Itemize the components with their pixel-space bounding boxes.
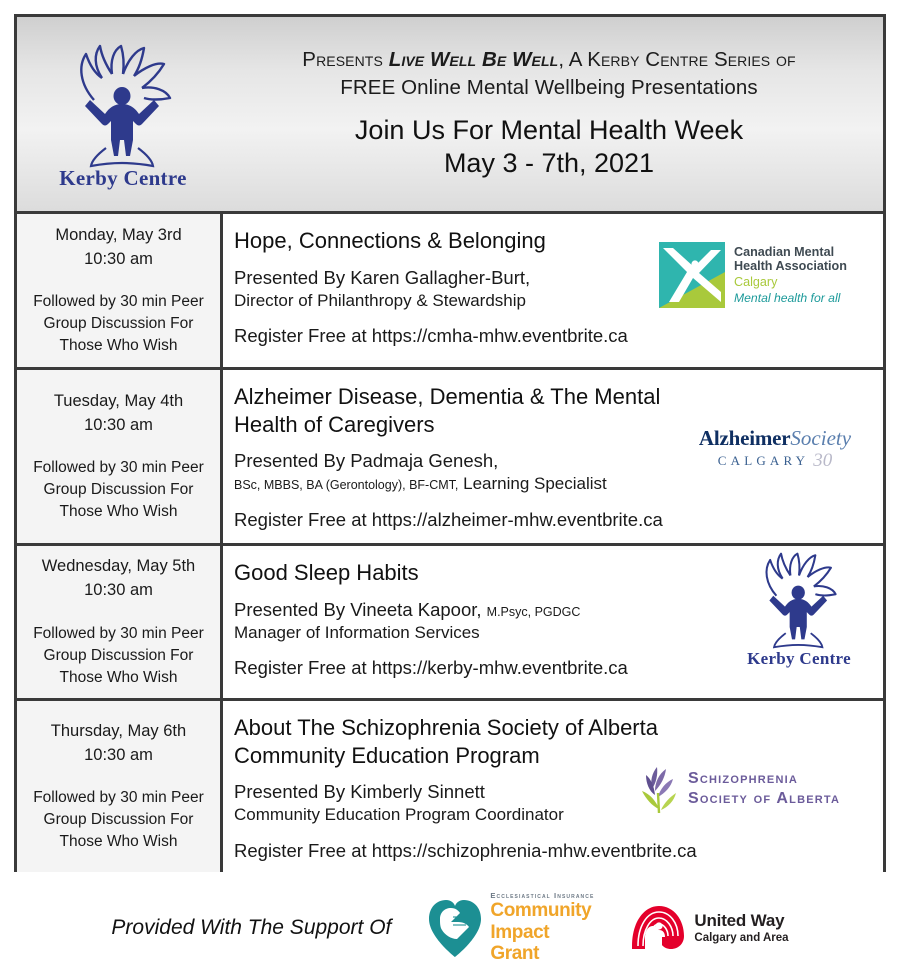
presenter-name-text: Presented By Vineeta Kapoor, bbox=[234, 599, 482, 620]
event-date: Monday, May 3rd bbox=[55, 224, 181, 248]
cmha-line-1: Canadian Mental bbox=[734, 245, 847, 260]
kerby-figure-icon: Kerby Centre bbox=[64, 44, 182, 172]
cig-text-block: Ecclesiastical Insurance Community Impac… bbox=[490, 892, 594, 964]
united-way-name: United Way bbox=[694, 911, 788, 930]
cmha-line-3: Calgary bbox=[734, 275, 847, 290]
schedule-row: Thursday, May 6th 10:30 am Followed by 3… bbox=[17, 701, 883, 872]
support-text: Provided With The Support Of bbox=[111, 916, 391, 940]
event-date: Thursday, May 6th bbox=[51, 720, 186, 744]
peer-group-note: Followed by 30 min Peer Group Discussion… bbox=[23, 457, 214, 523]
kerby-centre-logo-row: Kerby Centre bbox=[729, 552, 869, 669]
schizophrenia-line-1: Schizophrenia bbox=[688, 769, 840, 789]
poster: Kerby Centre Kerby Centre Presents Live … bbox=[0, 0, 900, 975]
schizophrenia-line-2: Society of Alberta bbox=[688, 789, 840, 809]
cmha-tagline: Mental health for all bbox=[734, 291, 847, 305]
presents-line-2-text: FREE Online Mental Wellbeing Presentatio… bbox=[340, 76, 757, 99]
presenter-role: BSc, MBBS, BA (Gerontology), BF-CMT, Lea… bbox=[234, 473, 883, 495]
presenter-role-text: Learning Specialist bbox=[463, 474, 607, 493]
event-time: 10:30 am bbox=[55, 248, 181, 272]
schedule-row: Tuesday, May 4th 10:30 am Followed by 30… bbox=[17, 370, 883, 546]
kerby-figure-icon bbox=[753, 552, 845, 652]
date-cell: Wednesday, May 5th 10:30 am Followed by … bbox=[17, 546, 223, 698]
date-cell: Monday, May 3rd 10:30 am Followed by 30 … bbox=[17, 214, 223, 367]
register-link[interactable]: Register Free at https://cmha-mhw.eventb… bbox=[234, 324, 883, 348]
title-line-1: Join Us For Mental Health Week bbox=[355, 114, 743, 147]
content-cell: Hope, Connections & Belonging Presented … bbox=[223, 214, 883, 367]
date-cell: Thursday, May 6th 10:30 am Followed by 3… bbox=[17, 701, 223, 872]
schizophrenia-society-logo: Schizophrenia Society of Alberta bbox=[637, 763, 873, 815]
presents-suffix: , A Kerby Centre Series of bbox=[558, 48, 795, 71]
session-title: Good Sleep Habits bbox=[234, 559, 664, 587]
alzheimer-anniversary-badge: 30 bbox=[813, 452, 832, 469]
cig-line-3: Grant bbox=[490, 944, 594, 963]
cig-eyebrow: Ecclesiastical Insurance bbox=[490, 892, 594, 900]
alzheimer-name: Alzheimer bbox=[699, 426, 791, 450]
peer-group-note: Followed by 30 min Peer Group Discussion… bbox=[23, 623, 214, 689]
heart-hand-icon bbox=[427, 897, 483, 959]
series-name: Live Well Be Well bbox=[389, 48, 559, 71]
schedule-row: Monday, May 3rd 10:30 am Followed by 30 … bbox=[17, 214, 883, 370]
kerby-centre-wordmark: Kerby Centre bbox=[729, 649, 869, 669]
session-title: Alzheimer Disease, Dementia & The Mental… bbox=[234, 383, 704, 438]
cig-line-1: Community bbox=[490, 901, 594, 920]
content-cell: Alzheimer Disease, Dementia & The Mental… bbox=[223, 370, 883, 543]
united-way-text-block: United Way Calgary and Area bbox=[694, 911, 788, 945]
united-way-region: Calgary and Area bbox=[694, 932, 788, 945]
date-time-block: Wednesday, May 5th 10:30 am bbox=[42, 555, 195, 603]
alzheimer-city: CALGARY bbox=[718, 453, 810, 469]
presents-prefix: Presents bbox=[302, 48, 388, 71]
kerby-centre-logo-header: Kerby Centre Kerby Centre bbox=[17, 17, 229, 211]
society-word: Society bbox=[790, 426, 851, 450]
content-cell: About The Schizophrenia Society of Alber… bbox=[223, 701, 883, 872]
header-text-block: Presents Live Well Be Well, A Kerby Cent… bbox=[229, 17, 883, 211]
schedule-row: Wednesday, May 5th 10:30 am Followed by … bbox=[17, 546, 883, 701]
iris-flower-icon bbox=[637, 763, 681, 815]
schedule-table: Kerby Centre Kerby Centre Presents Live … bbox=[14, 14, 886, 872]
register-link[interactable]: Register Free at https://schizophrenia-m… bbox=[234, 839, 883, 863]
event-date: Wednesday, May 5th bbox=[42, 555, 195, 579]
peer-group-note: Followed by 30 min Peer Group Discussion… bbox=[23, 787, 214, 853]
united-way-rainbow-hand-icon bbox=[630, 902, 686, 954]
event-time: 10:30 am bbox=[42, 579, 195, 603]
alzheimer-society-logo: AlzheimerSociety CALGARY 30 bbox=[675, 426, 875, 469]
date-time-block: Tuesday, May 4th 10:30 am bbox=[54, 390, 183, 438]
alzheimer-sub: CALGARY 30 bbox=[675, 452, 875, 469]
event-time: 10:30 am bbox=[54, 414, 183, 438]
event-time: 10:30 am bbox=[51, 744, 186, 768]
session-title: About The Schizophrenia Society of Alber… bbox=[234, 714, 704, 769]
presents-line-2: FREE Online Mental Wellbeing Presentatio… bbox=[302, 74, 795, 101]
kerby-centre-wordmark: Kerby Centre bbox=[59, 166, 186, 191]
register-link[interactable]: Register Free at https://alzheimer-mhw.e… bbox=[234, 508, 883, 532]
community-impact-grant-logo: Ecclesiastical Insurance Community Impac… bbox=[427, 892, 594, 964]
peer-group-note: Followed by 30 min Peer Group Discussion… bbox=[23, 291, 214, 357]
session-title: Hope, Connections & Belonging bbox=[234, 227, 664, 255]
date-time-block: Thursday, May 6th 10:30 am bbox=[51, 720, 186, 768]
presenter-credentials: BSc, MBBS, BA (Gerontology), BF-CMT, bbox=[234, 478, 458, 492]
date-time-block: Monday, May 3rd 10:30 am bbox=[55, 224, 181, 272]
presenter-credentials: M.Psyc, PGDGC bbox=[487, 605, 581, 619]
poster-header: Kerby Centre Kerby Centre Presents Live … bbox=[17, 17, 883, 214]
presents-tagline: Presents Live Well Be Well, A Kerby Cent… bbox=[302, 46, 795, 101]
poster-title: Join Us For Mental Health Week May 3 - 7… bbox=[355, 114, 743, 180]
cig-line-2: Impact bbox=[490, 923, 594, 942]
schizophrenia-wordmark: Schizophrenia Society of Alberta bbox=[688, 769, 840, 810]
alzheimer-wordmark: AlzheimerSociety bbox=[675, 426, 875, 451]
cmha-mark-icon bbox=[659, 242, 725, 308]
event-date: Tuesday, May 4th bbox=[54, 390, 183, 414]
poster-footer: Provided With The Support Of Ecclesiasti… bbox=[0, 880, 900, 975]
content-cell: Good Sleep Habits Presented By Vineeta K… bbox=[223, 546, 883, 698]
cmha-text-block: Canadian Mental Health Association Calga… bbox=[734, 245, 847, 306]
cmha-line-2: Health Association bbox=[734, 259, 847, 274]
united-way-logo: United Way Calgary and Area bbox=[630, 902, 788, 954]
cmha-logo: Canadian Mental Health Association Calga… bbox=[659, 242, 875, 308]
date-cell: Tuesday, May 4th 10:30 am Followed by 30… bbox=[17, 370, 223, 543]
title-line-2: May 3 - 7th, 2021 bbox=[355, 147, 743, 180]
